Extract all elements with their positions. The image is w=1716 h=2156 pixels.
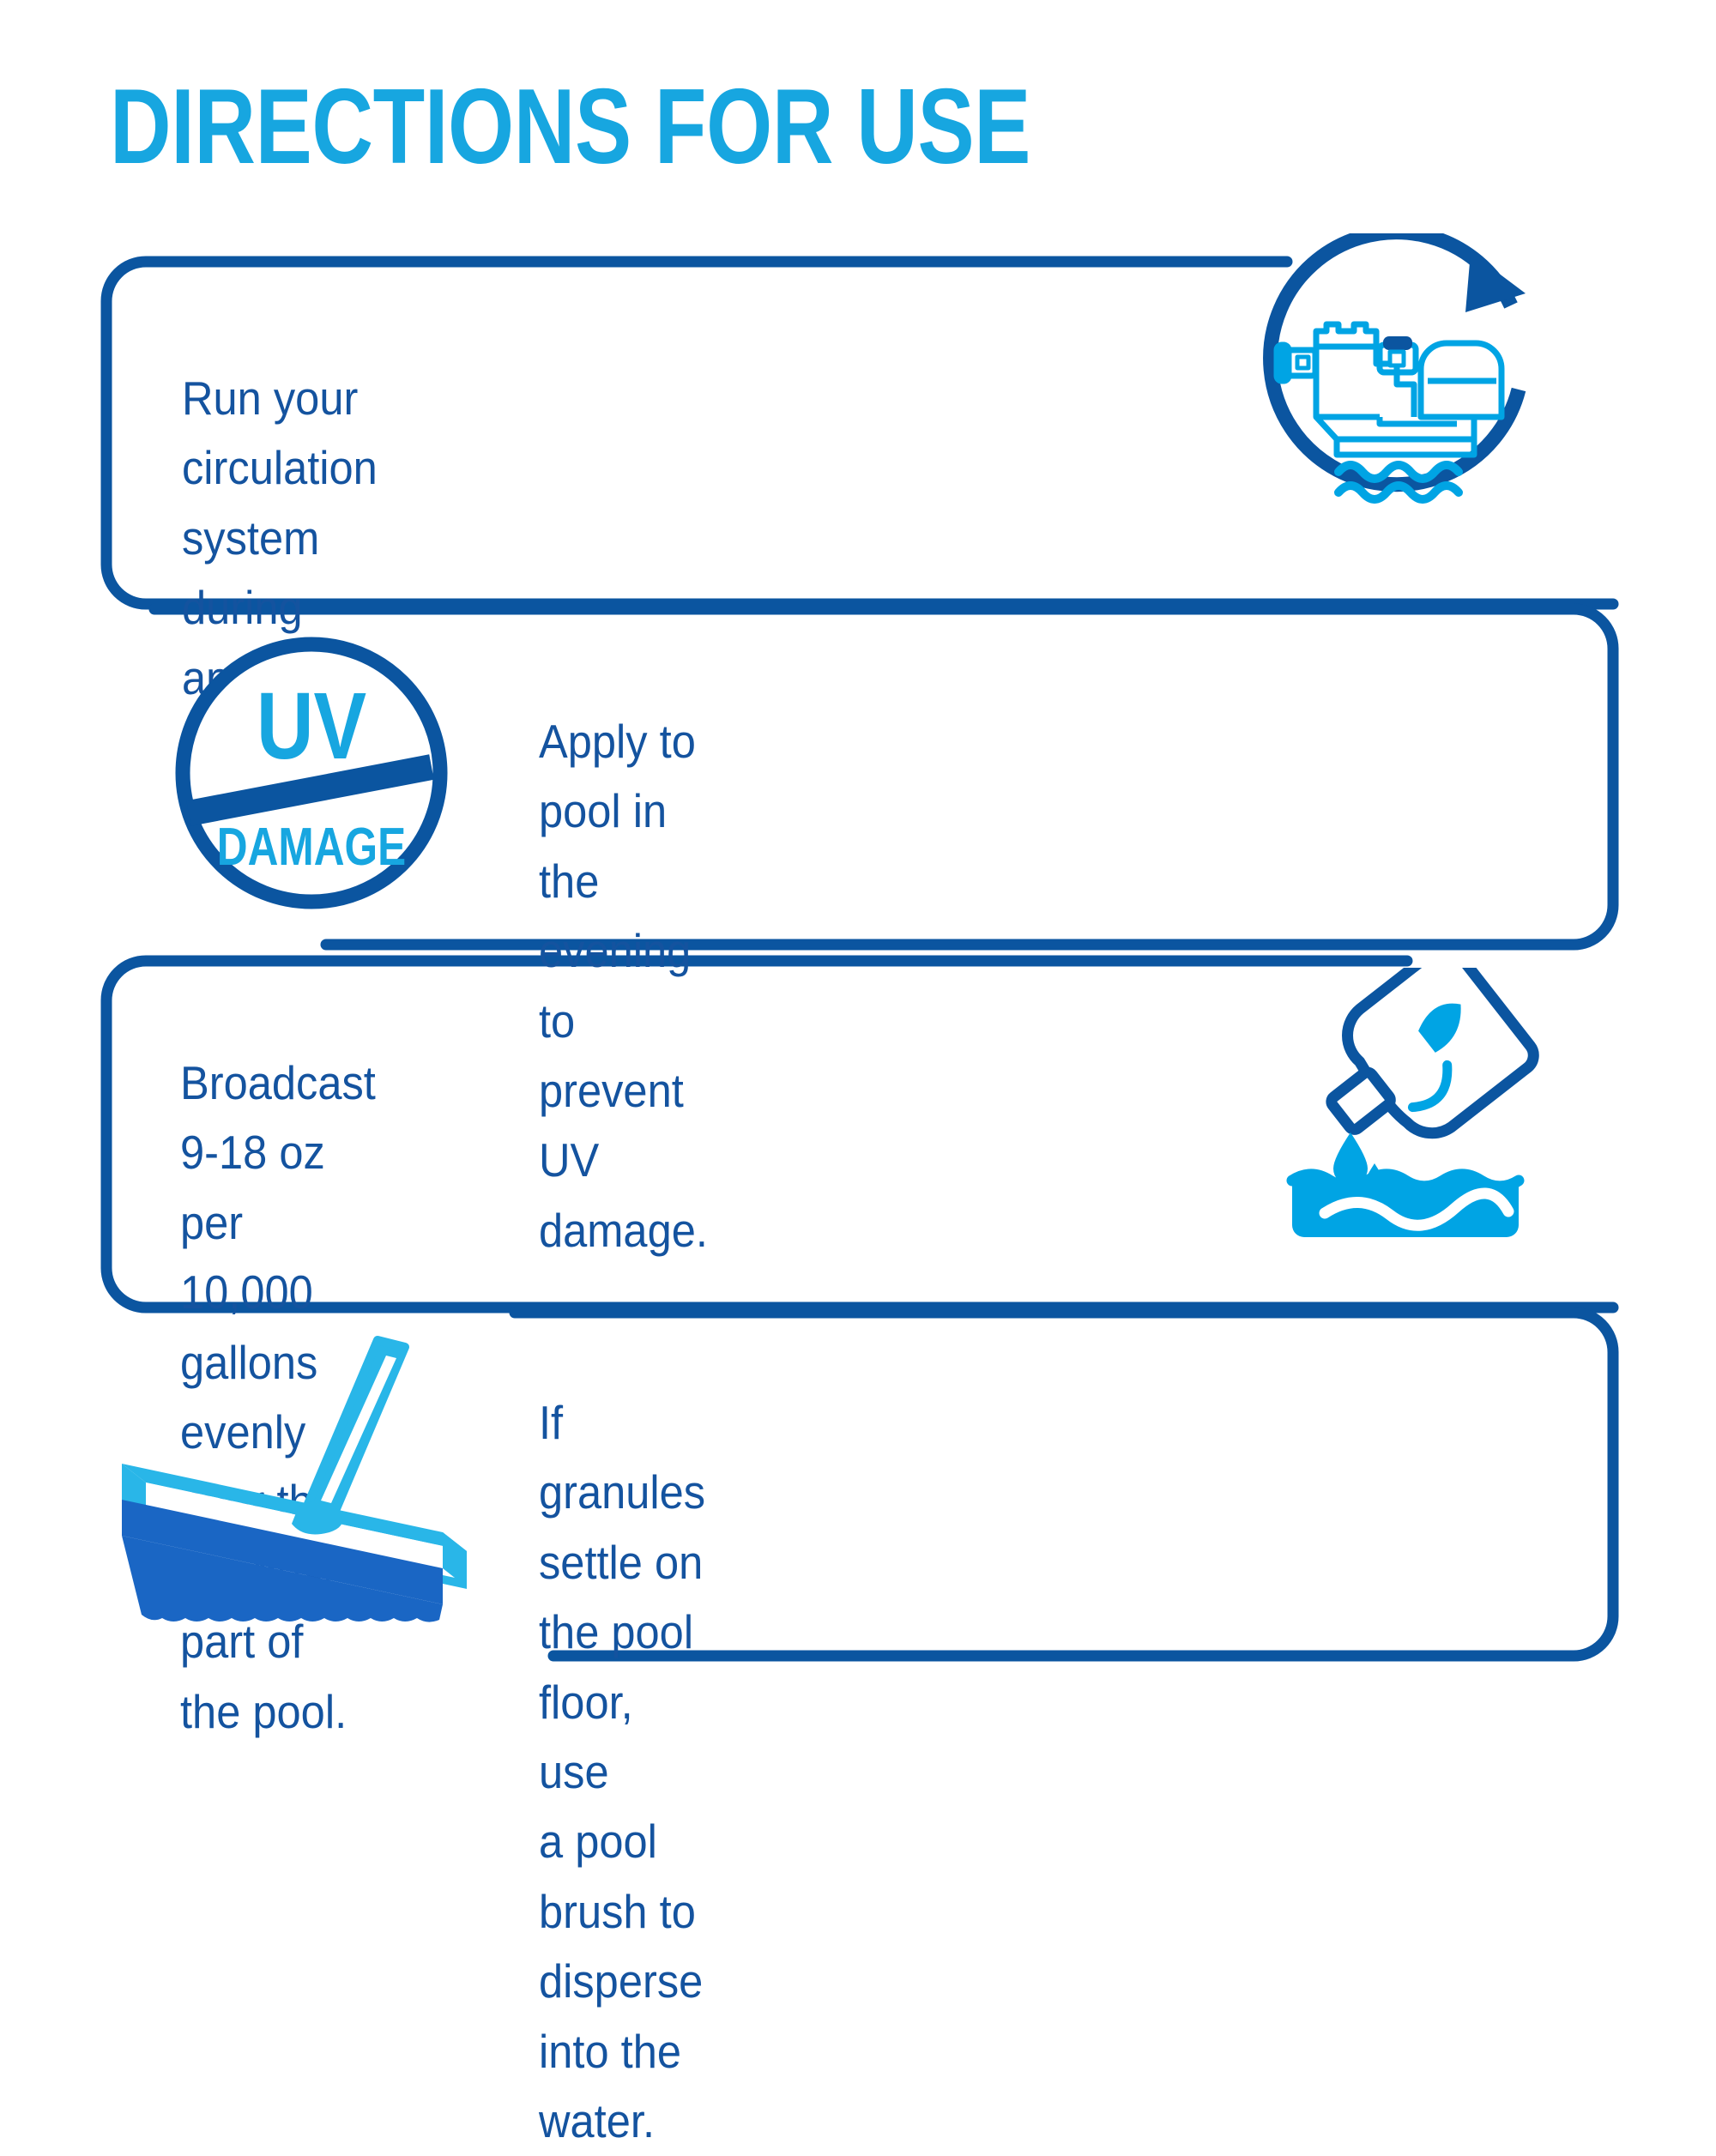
step-4-text: If granules settle on the pool floor, us… (539, 1388, 705, 2156)
pouring-bottle-into-water-icon (1278, 968, 1562, 1251)
no-uv-damage-icon: UV DAMAGE (170, 631, 453, 915)
circulation-pump-icon (1260, 233, 1543, 516)
step-2-text: Apply to pool in the evening to prevent … (539, 707, 708, 1265)
uv-icon-label: UV (257, 673, 367, 778)
infographic-canvas: DIRECTIONS FOR USE Run your circulation … (0, 0, 1716, 1716)
uv-damage-icon-label: DAMAGE (217, 817, 406, 877)
pool-brush-icon (103, 1321, 489, 1656)
